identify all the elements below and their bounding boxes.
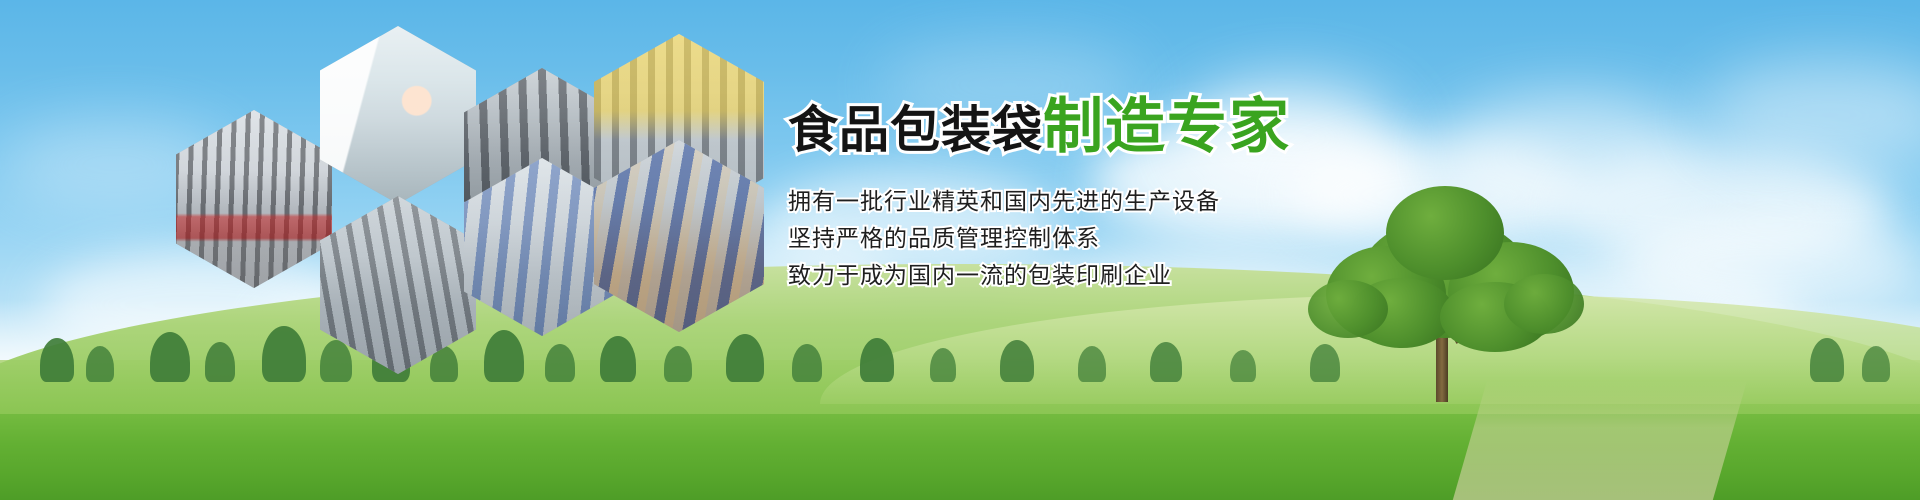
hero-banner: 食品包装袋制造专家 拥有一批行业精英和国内先进的生产设备 坚持严格的品质管理控制… <box>0 0 1920 500</box>
banner-subline: 拥有一批行业精英和国内先进的生产设备 <box>788 183 1548 220</box>
collage-photo-lab-technician <box>320 26 476 204</box>
banner-subline: 致力于成为国内一流的包装印刷企业 <box>788 257 1548 294</box>
headline-dark-part: 食品包装袋 <box>788 102 1043 158</box>
collage-photo-warehouse-aisle <box>176 110 332 288</box>
banner-subline-list: 拥有一批行业精英和国内先进的生产设备 坚持严格的品质管理控制体系 致力于成为国内… <box>788 183 1548 294</box>
page-title: 食品包装袋制造专家 <box>788 96 1548 161</box>
headline-green-part: 制造专家 <box>1043 93 1291 160</box>
hexagon-photo-collage <box>168 18 788 358</box>
banner-text-block: 食品包装袋制造专家 拥有一批行业精英和国内先进的生产设备 坚持严格的品质管理控制… <box>788 96 1548 294</box>
collage-photo-production-plant <box>320 196 476 374</box>
banner-subline: 坚持严格的品质管理控制体系 <box>788 220 1548 257</box>
